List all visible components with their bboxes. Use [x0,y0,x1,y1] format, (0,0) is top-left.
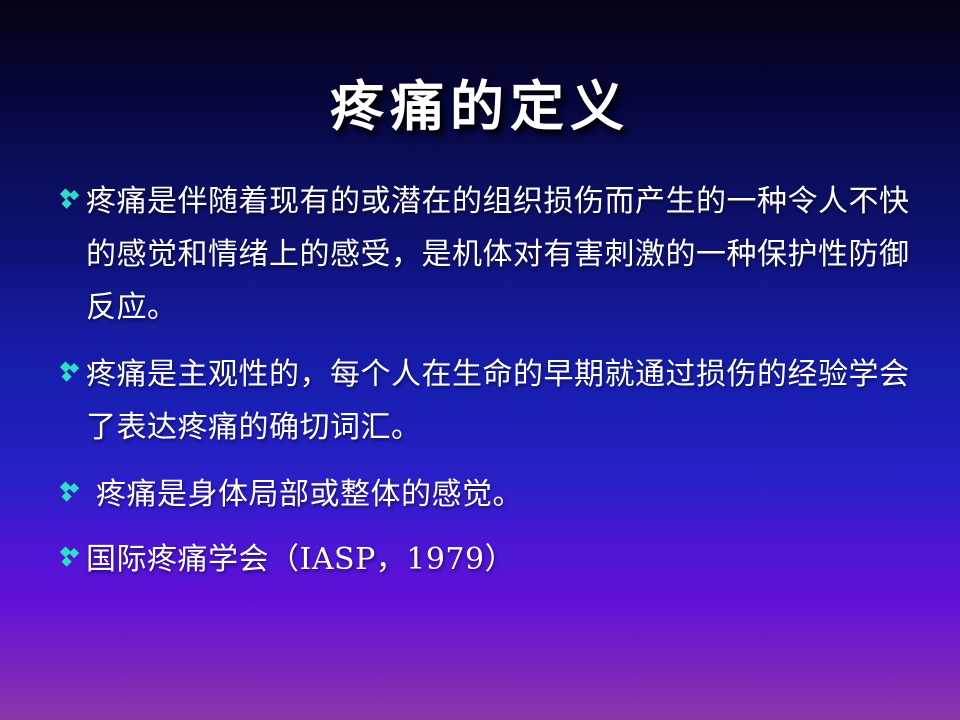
slide-title-text: 疼痛的定义 [330,62,630,141]
list-item-text: 疼痛是主观性的，每个人在生命的早期就通过损伤的经验学会了表达疼痛的确切词汇。 [86,348,927,454]
list-item: 国际疼痛学会（IASP，1979） [52,533,927,586]
list-item-text: 国际疼痛学会（IASP，1979） [86,533,927,586]
list-item: 疼痛是主观性的，每个人在生命的早期就通过损伤的经验学会了表达疼痛的确切词汇。 [52,348,927,454]
slide-body: 疼痛是伴随着现有的或潜在的组织损伤而产生的一种令人不快的感觉和情绪上的感受，是机… [52,175,927,598]
list-item-text: 疼痛是身体局部或整体的感觉。 [86,468,927,521]
four-diamond-bullet-icon [52,348,86,394]
slide-title: 疼痛的定义 [0,62,960,141]
list-item: 疼痛是伴随着现有的或潜在的组织损伤而产生的一种令人不快的感觉和情绪上的感受，是机… [52,175,927,334]
four-diamond-bullet-icon [52,468,86,514]
four-diamond-bullet-icon [52,175,86,221]
list-item-text: 疼痛是伴随着现有的或潜在的组织损伤而产生的一种令人不快的感觉和情绪上的感受，是机… [86,175,927,334]
slide: 疼痛的定义 疼痛是伴随着现有的或潜在的组织损伤而产生的一种令人不快的感觉和情绪上… [0,0,960,720]
list-item: 疼痛是身体局部或整体的感觉。 [52,468,927,521]
four-diamond-bullet-icon [52,533,86,579]
